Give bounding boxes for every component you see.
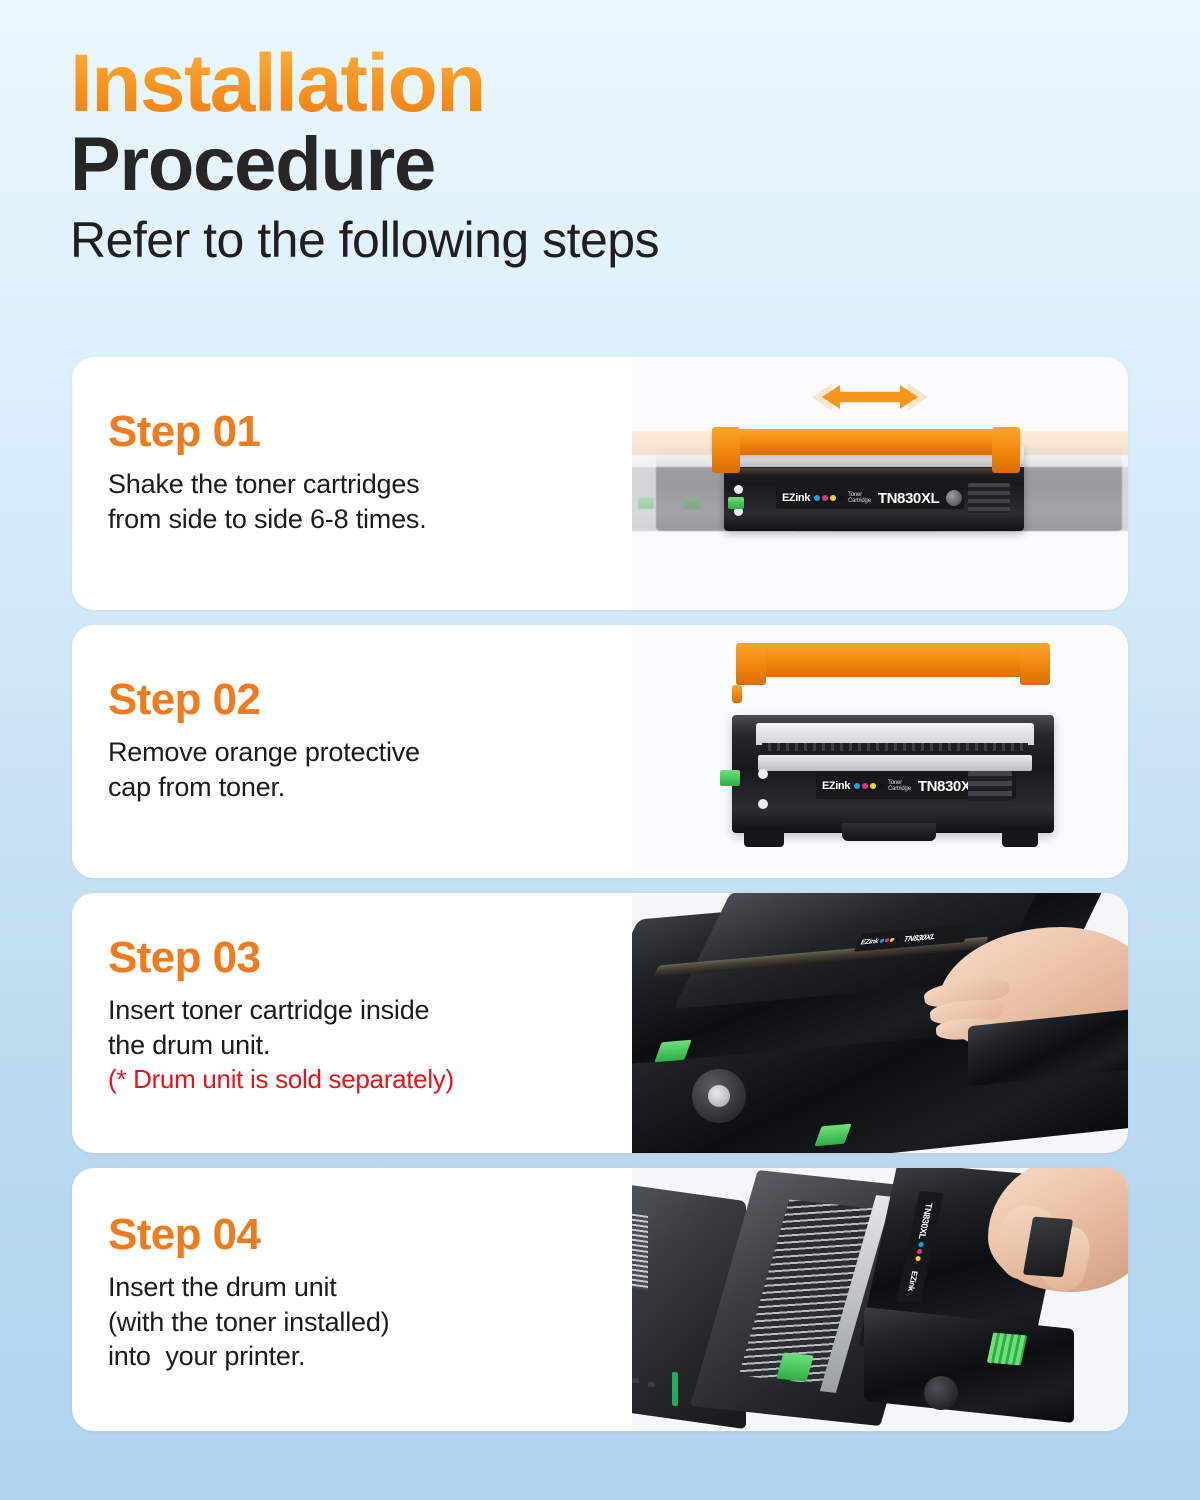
toner-cartridge: EZink Toner Cartridge TN830XL: [732, 715, 1054, 833]
cartridge-foot-left: [744, 831, 784, 847]
detached-cap-left-hook: [736, 643, 766, 685]
ghost-green-tab-left: [638, 497, 654, 509]
label-sub-line-2: Cartridge: [888, 786, 911, 792]
step-04-text-block: Step 04 Insert the drum unit (with the t…: [72, 1168, 632, 1431]
drum-gear-hub: [708, 1085, 730, 1107]
page-title-procedure: Procedure: [70, 126, 1200, 204]
step-02-desc-line-2: cap from toner.: [108, 770, 632, 805]
step-04-label: Step 04: [108, 1212, 632, 1258]
cartridge-pin-top: [758, 769, 768, 779]
printer-status-led: [672, 1372, 678, 1407]
step-01-desc-line-1: Shake the toner cartridges: [108, 467, 632, 502]
page-subtitle: Refer to the following steps: [70, 211, 1200, 269]
label-sublines: Toner Cartridge: [888, 780, 911, 793]
step-01-label: Step 01: [108, 409, 632, 455]
shake-arrow-icon: [810, 375, 930, 419]
step-02-desc-line-1: Remove orange protective: [108, 735, 632, 770]
step-04-desc-line-3: into your printer.: [108, 1339, 632, 1374]
brand-text: EZink: [906, 1271, 919, 1292]
cmyk-dots-icon: [879, 937, 900, 943]
step-02-label: Step 02: [108, 677, 632, 723]
step-01-figure: EZink Toner Cartridge TN830XL: [632, 357, 1128, 610]
step-card-01: Step 01 Shake the toner cartridges from …: [72, 357, 1128, 610]
orange-cap-right-end: [992, 427, 1020, 473]
cartridge-grip-ridges: [968, 771, 1012, 801]
toner-cartridge: EZink Toner Cartridge TN830XL: [724, 445, 1024, 531]
green-release-tab: [720, 770, 740, 786]
cartridge-pin-bottom: [758, 799, 768, 809]
green-lock-lever-right: [987, 1333, 1027, 1366]
brand-text: EZink: [822, 780, 850, 792]
step-card-02: Step 02 Remove orange protective cap fro…: [72, 625, 1128, 878]
step-01-description: Shake the toner cartridges from side to …: [108, 467, 632, 536]
step-01-desc-line-2: from side to side 6-8 times.: [108, 502, 632, 537]
step-02-figure: EZink Toner Cartridge TN830XL: [632, 625, 1128, 878]
printer-keypad-dot: [632, 1378, 639, 1383]
green-release-tab: [728, 497, 744, 509]
brand-text: EZink: [859, 938, 879, 946]
page-header: Installation Procedure Refer to the foll…: [0, 0, 1200, 269]
step-03-label: Step 03: [108, 935, 632, 981]
step-card-03: Step 03 Insert toner cartridge inside th…: [72, 893, 1128, 1153]
drum-unit-knob: [924, 1376, 958, 1410]
label-sub-line-2: Cartridge: [848, 498, 871, 504]
cmyk-dots-icon: [814, 495, 844, 501]
cartridge-top-shell: [756, 723, 1034, 745]
ghost-green-tab-mid: [684, 497, 700, 509]
cartridge-seam: [730, 468, 1018, 474]
cartridge-foot-right: [1002, 831, 1038, 847]
step-03-description: Insert toner cartridge inside the drum u…: [108, 993, 632, 1062]
step-card-04: Step 04 Insert the drum unit (with the t…: [72, 1168, 1128, 1431]
page-title-installation: Installation: [70, 44, 485, 124]
cartridge-grip-ridges: [968, 483, 1010, 513]
step-03-desc-line-2: the drum unit.: [108, 1028, 632, 1063]
model-text: TN830XL: [917, 1203, 935, 1240]
detached-cap-tab: [732, 685, 742, 703]
drum-unit-lower-frame: [864, 1307, 1074, 1423]
step-04-description: Insert the drum unit (with the toner ins…: [108, 1270, 632, 1374]
cartridge-white-band: [758, 755, 1032, 771]
model-text: TN830XL: [878, 490, 939, 507]
step-04-desc-line-2: (with the toner installed): [108, 1305, 632, 1340]
orange-protective-cap: [712, 429, 1020, 455]
step-02-description: Remove orange protective cap from toner.: [108, 735, 632, 804]
step-03-text-block: Step 03 Insert toner cartridge inside th…: [72, 893, 632, 1153]
steps-list: Step 01 Shake the toner cartridges from …: [72, 357, 1128, 1446]
printer-keypad-dot: [648, 1382, 655, 1387]
step-03-warning-note: (* Drum unit is sold separately): [108, 1063, 632, 1096]
model-text: TN830XL: [902, 932, 938, 944]
registered-mark-icon: [946, 490, 962, 506]
step-04-figure: TN830XL EZink: [632, 1168, 1128, 1431]
step-02-text-block: Step 02 Remove orange protective cap fro…: [72, 625, 632, 878]
brand-text: EZink: [782, 492, 810, 504]
cartridge-label: EZink Toner Cartridge TN830XL: [776, 487, 964, 509]
printer-vent: [632, 1208, 648, 1290]
step-03-figure: EZink TN830XL: [632, 893, 1128, 1153]
detached-orange-cap-bar: [736, 643, 1048, 677]
step-03-desc-line-1: Insert toner cartridge inside: [108, 993, 632, 1028]
cmyk-dots-icon: [913, 1242, 924, 1268]
step-01-text-block: Step 01 Shake the toner cartridges from …: [72, 357, 632, 610]
step-04-desc-line-1: Insert the drum unit: [108, 1270, 632, 1305]
cartridge-pin-top: [734, 485, 743, 494]
detached-cap-right-hook: [1020, 643, 1050, 685]
cartridge-teeth: [762, 743, 1028, 751]
label-sublines: Toner Cartridge: [848, 492, 871, 505]
cmyk-dots-icon: [854, 783, 884, 789]
cartridge-handle: [842, 823, 936, 841]
orange-cap-left-end: [712, 427, 740, 473]
double-arrow-svg: [810, 375, 930, 419]
